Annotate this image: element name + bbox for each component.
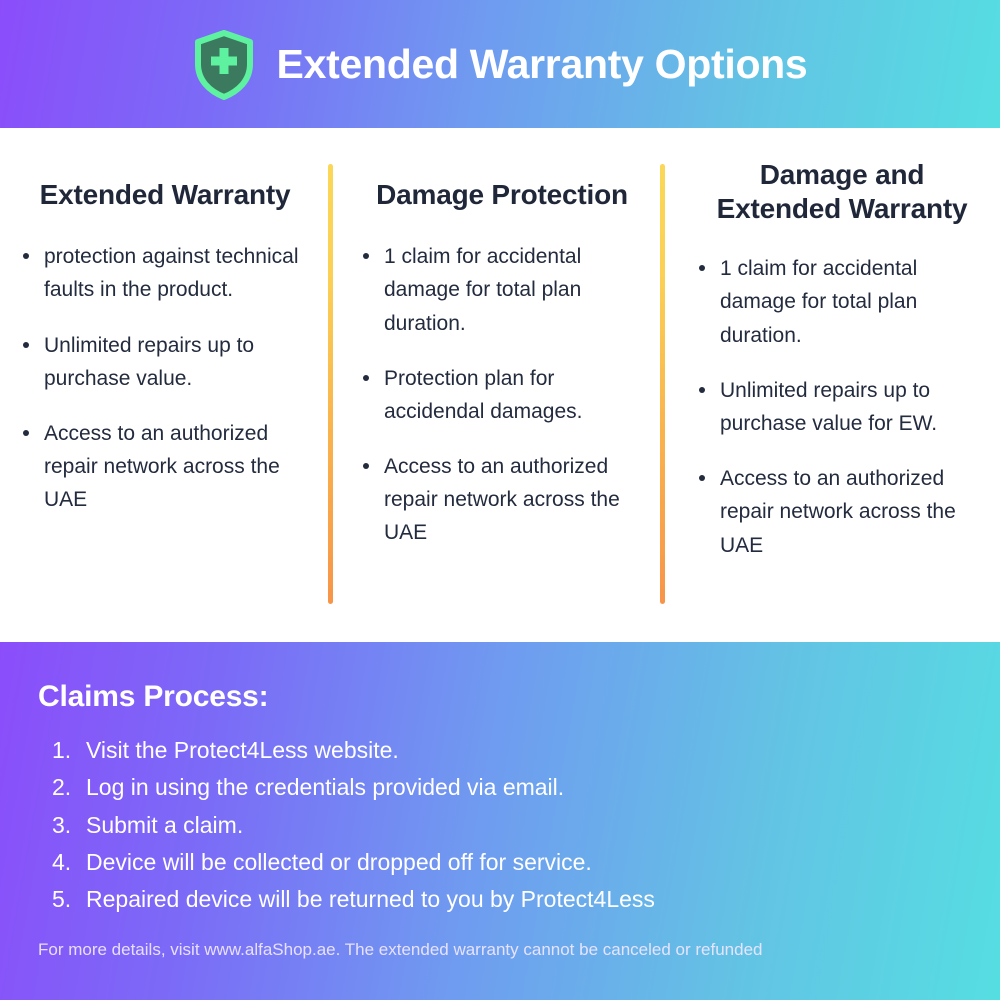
page-title: Extended Warranty Options	[277, 41, 808, 88]
plan-benefits-list: 1 claim for accidental damage for total …	[358, 240, 646, 571]
plan-column-extended-warranty: Extended Warranty protection against tec…	[0, 128, 330, 642]
list-item: Protection plan for accidendal damages.	[358, 362, 646, 428]
list-item: Repaired device will be returned to you …	[52, 881, 1000, 918]
plan-title: Extended Warranty	[18, 178, 312, 212]
footer-disclaimer: For more details, visit www.alfaShop.ae.…	[38, 940, 1000, 960]
list-item: Submit a claim.	[52, 807, 1000, 844]
list-item: Device will be collected or dropped off …	[52, 844, 1000, 881]
plan-benefits-list: protection against technical faults in t…	[18, 240, 312, 538]
list-item: Unlimited repairs up to purchase value f…	[694, 374, 990, 440]
plan-benefits-list: 1 claim for accidental damage for total …	[694, 252, 990, 583]
list-item: Access to an authorized repair network a…	[18, 417, 312, 517]
list-item: Log in using the credentials provided vi…	[52, 769, 1000, 806]
list-item: protection against technical faults in t…	[18, 240, 312, 306]
header-banner: Extended Warranty Options	[0, 0, 1000, 128]
plans-comparison: Extended Warranty protection against tec…	[0, 128, 1000, 642]
plan-title: Damage Protection	[358, 178, 646, 212]
claims-process-section: Claims Process: Visit the Protect4Less w…	[0, 642, 1000, 1000]
list-item: Unlimited repairs up to purchase value.	[18, 329, 312, 395]
shield-plus-icon	[193, 30, 255, 100]
list-item: 1 claim for accidental damage for total …	[358, 240, 646, 340]
list-item: Access to an authorized repair network a…	[694, 462, 990, 562]
list-item: Visit the Protect4Less website.	[52, 732, 1000, 769]
plan-column-damage-and-extended-warranty: Damage and Extended Warranty 1 claim for…	[660, 128, 1000, 642]
plan-title: Damage and Extended Warranty	[694, 158, 990, 226]
claims-process-title: Claims Process:	[38, 680, 1000, 714]
list-item: 1 claim for accidental damage for total …	[694, 252, 990, 352]
claims-steps-list: Visit the Protect4Less website. Log in u…	[52, 732, 1000, 918]
plan-column-damage-protection: Damage Protection 1 claim for accidental…	[330, 128, 660, 642]
list-item: Access to an authorized repair network a…	[358, 450, 646, 550]
warranty-options-poster: Extended Warranty Options Extended Warra…	[0, 0, 1000, 1000]
